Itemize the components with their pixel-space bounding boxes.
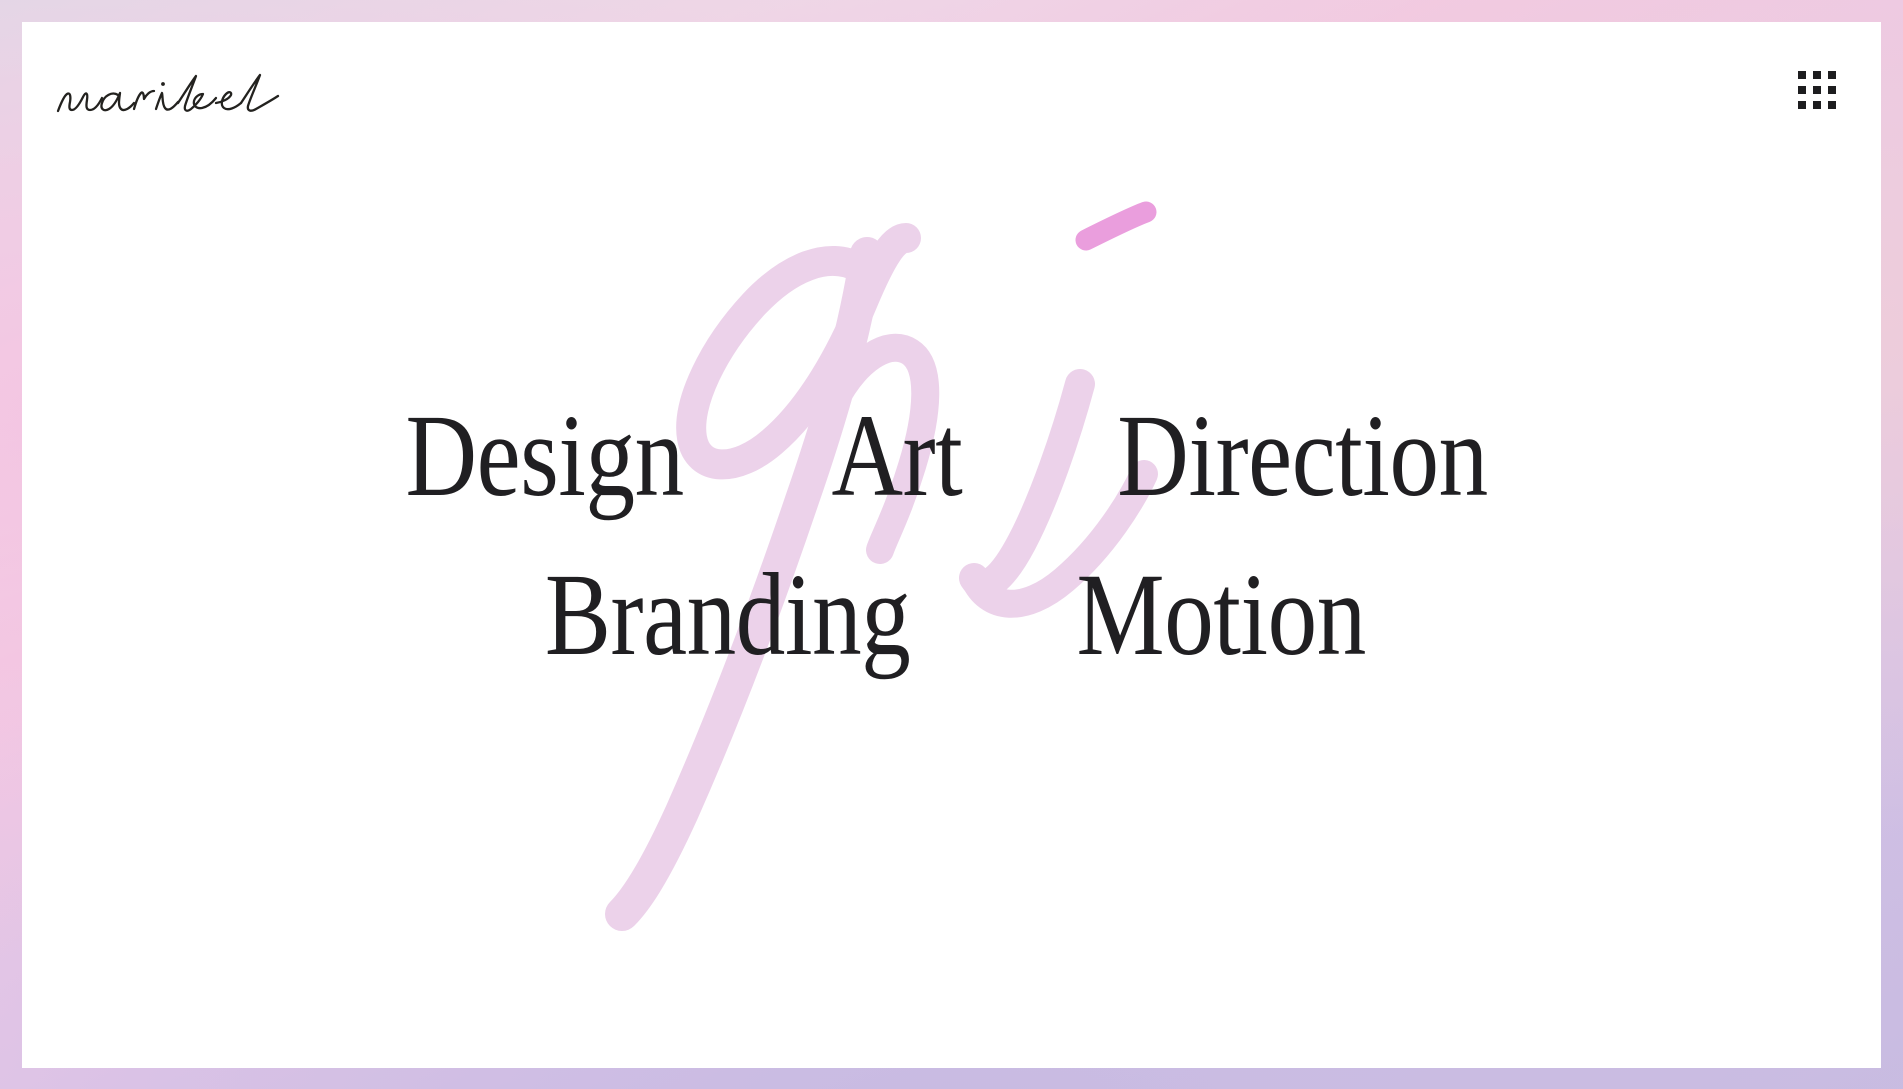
hero-services: Design Art Direction Branding Motion	[22, 22, 1881, 1068]
service-word-motion[interactable]: Motion	[1076, 545, 1365, 684]
service-word-direction[interactable]: Direction	[1118, 386, 1489, 525]
grid-dot	[1798, 86, 1806, 94]
grid-dot	[1813, 71, 1821, 79]
service-word-branding[interactable]: Branding	[544, 545, 910, 684]
grid-dot	[1813, 101, 1821, 109]
service-word-art[interactable]: Art	[831, 386, 962, 525]
grid-dot	[1813, 86, 1821, 94]
grid-dot	[1828, 101, 1836, 109]
service-row-1: Design Art Direction	[379, 386, 1523, 525]
service-word-design[interactable]: Design	[406, 386, 684, 525]
brand-logo[interactable]	[50, 63, 282, 125]
signature-script-logo-icon	[50, 63, 282, 125]
grid-dot	[1798, 71, 1806, 79]
grid-dot	[1828, 86, 1836, 94]
site-header	[22, 22, 1881, 162]
service-row-2: Branding Motion	[510, 545, 1394, 684]
grid-menu-icon[interactable]	[1797, 70, 1837, 110]
page-background-frame: Design Art Direction Branding Motion	[0, 0, 1903, 1089]
grid-dot	[1798, 101, 1806, 109]
logo-i-dot	[161, 82, 165, 86]
content-card: Design Art Direction Branding Motion	[22, 22, 1881, 1068]
grid-dot	[1828, 71, 1836, 79]
